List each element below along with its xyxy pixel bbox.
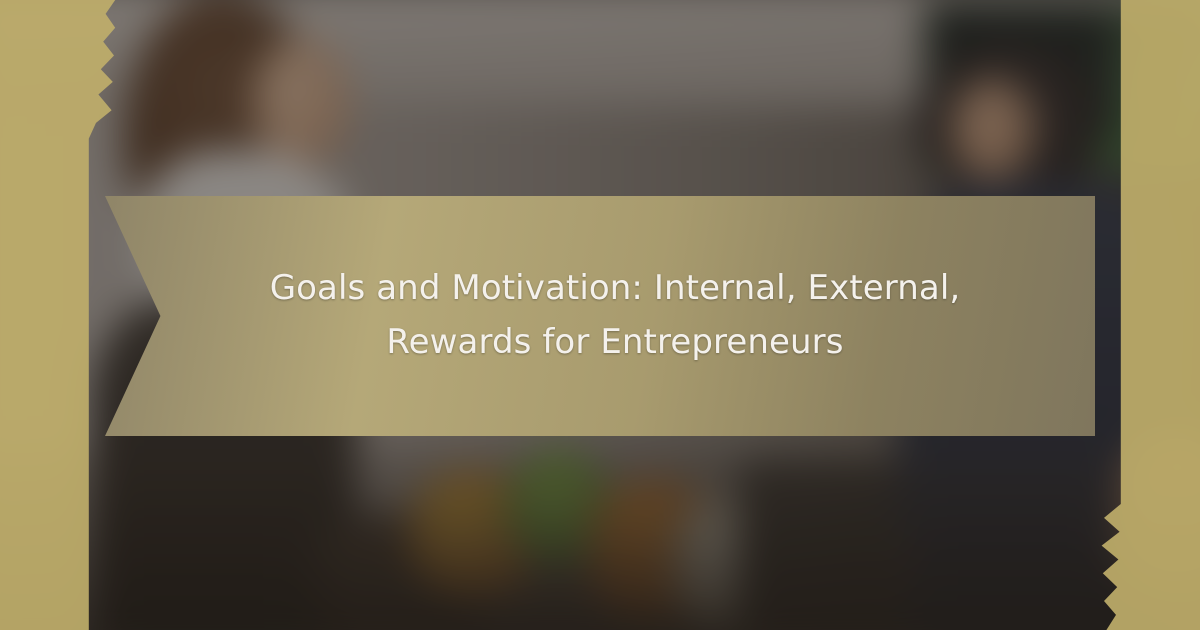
- social-share-card: Goals and Motivation: Internal, External…: [0, 0, 1200, 630]
- ribbon-content: Goals and Motivation: Internal, External…: [105, 196, 1095, 436]
- title-ribbon-banner: Goals and Motivation: Internal, External…: [105, 196, 1095, 436]
- page-title: Goals and Motivation: Internal, External…: [265, 262, 965, 369]
